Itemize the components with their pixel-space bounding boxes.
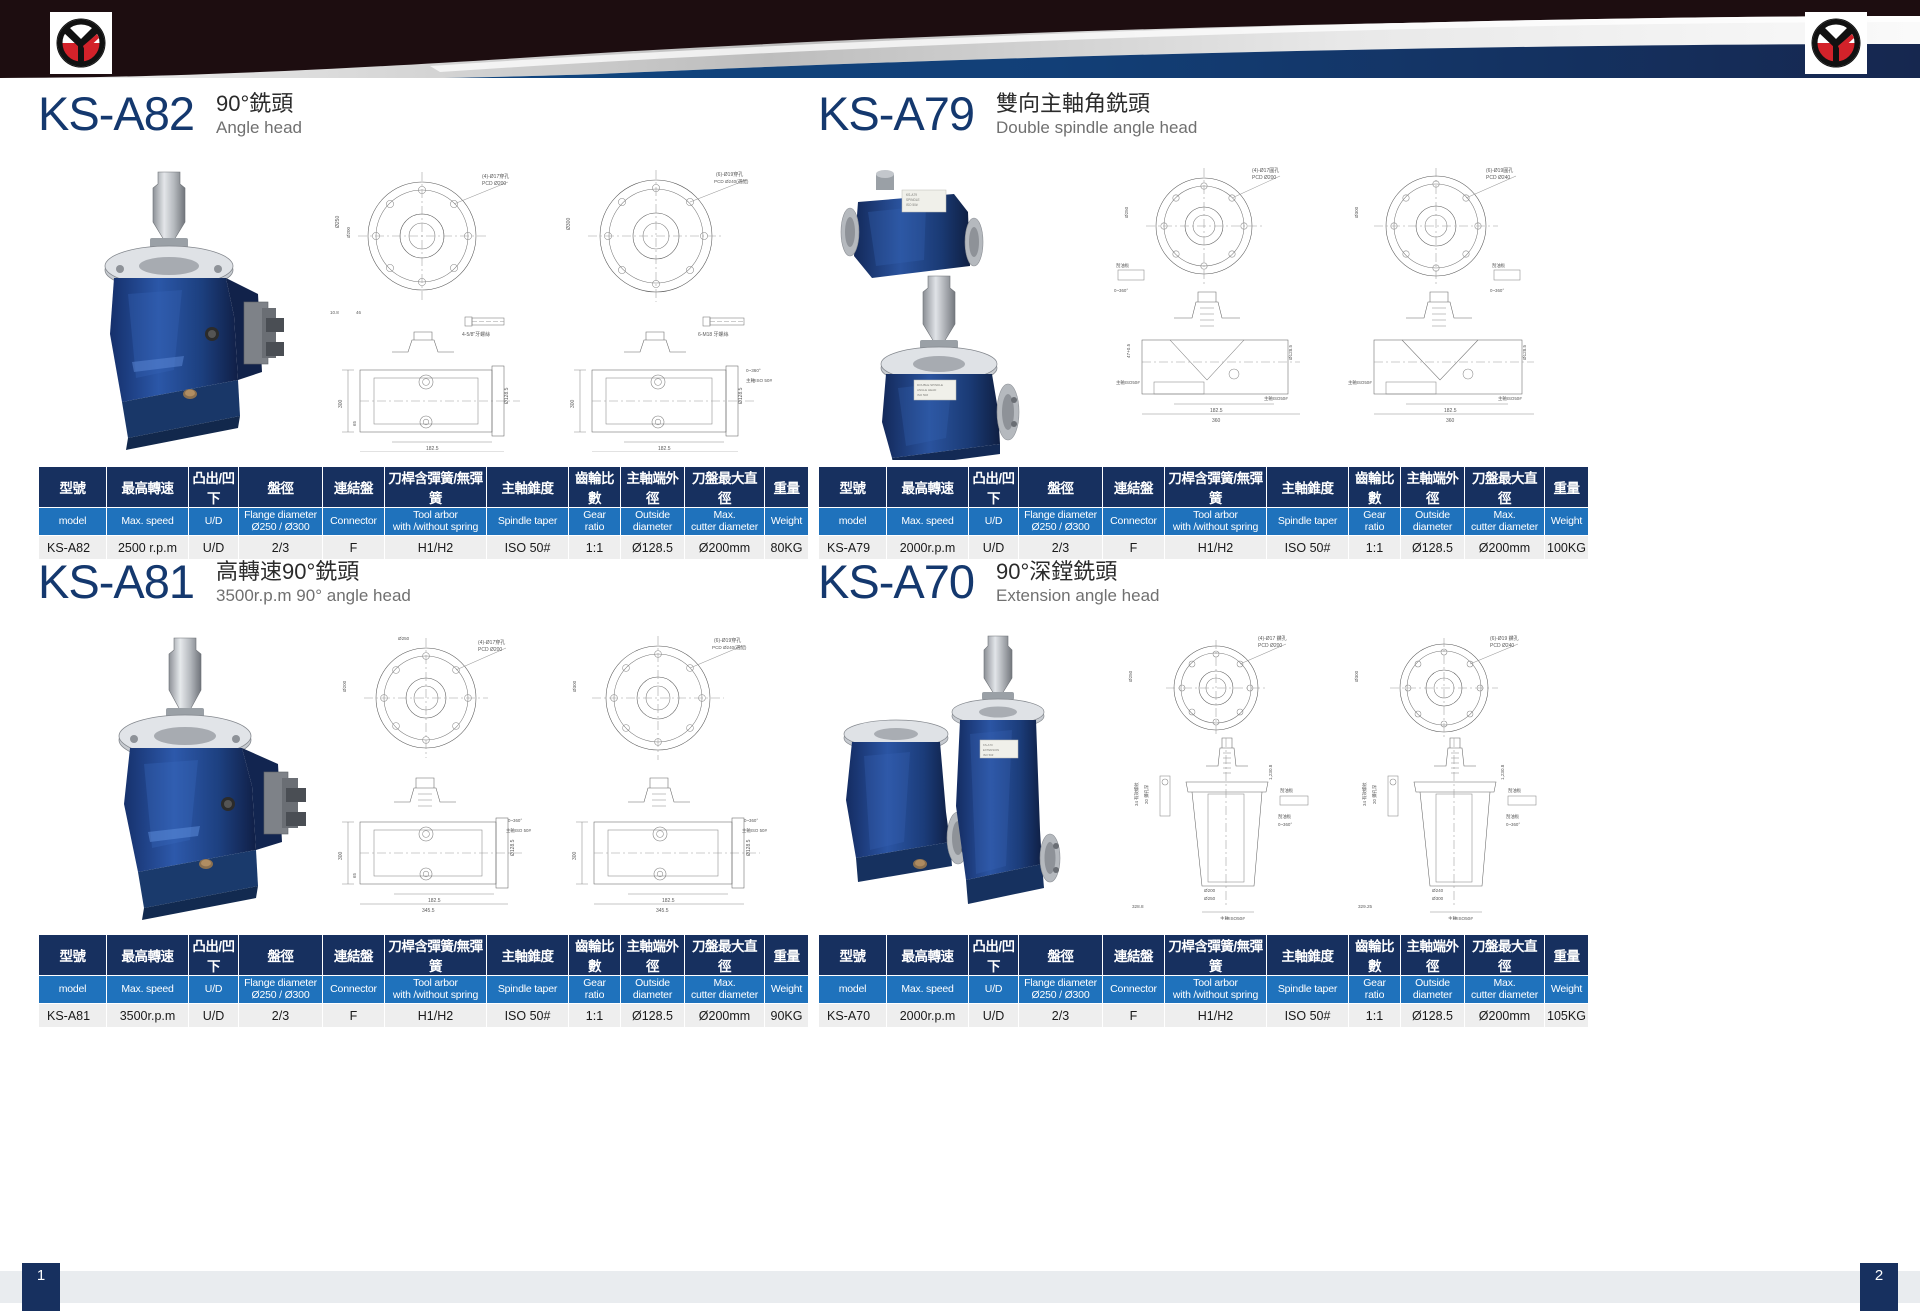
svg-text:300: 300 xyxy=(572,851,578,860)
th-en-gear: Gearratio xyxy=(569,508,621,536)
cell-flange: 2/3 xyxy=(1019,1004,1103,1028)
product-photo-ks-a82 xyxy=(62,166,292,461)
svg-text:主軸ISO50#: 主軸ISO50# xyxy=(1264,395,1288,402)
svg-text:(4)-Ø17穿孔: (4)-Ø17穿孔 xyxy=(482,173,509,180)
th-cn-cutter: 刀盤最大直徑 xyxy=(1465,467,1545,508)
svg-text:PCD Ø240(選配): PCD Ø240(選配) xyxy=(712,644,747,651)
svg-text:Ø300: Ø300 xyxy=(566,218,572,230)
product-block-ks-a82: KS-A82 90°銑頭 Angle head xyxy=(38,88,778,560)
svg-text:主軸ISO50#: 主軸ISO50# xyxy=(1220,915,1245,920)
svg-text:360: 360 xyxy=(1212,418,1221,424)
svg-text:(6)-Ø19圓孔: (6)-Ø19圓孔 xyxy=(1486,167,1513,174)
svg-text:20 鑽孔深: 20 鑽孔深 xyxy=(1371,784,1378,804)
svg-text:主軸ISO 50#: 主軸ISO 50# xyxy=(742,827,767,834)
svg-text:刮油板: 刮油板 xyxy=(1278,813,1292,820)
th-en-taper: Spindle taper xyxy=(1267,508,1349,536)
th-cn-outside: 主軸端外徑 xyxy=(1401,935,1465,976)
svg-text:Ø250: Ø250 xyxy=(1124,206,1129,218)
cell-model: KS-A81 xyxy=(39,1004,107,1028)
svg-text:0~360°: 0~360° xyxy=(1506,822,1520,827)
svg-text:182.5: 182.5 xyxy=(658,446,671,452)
svg-text:329.25: 329.25 xyxy=(1358,904,1372,909)
product-title-row: KS-A79 雙向主軸角銑頭 Double spindle angle head xyxy=(818,88,1558,150)
cell-gear: 1:1 xyxy=(569,1004,621,1028)
product-photo-ks-a79: KS-A79SPINDLEISO 50# xyxy=(828,160,1058,465)
technical-drawings-ks-a81: (4)-Ø17穿孔 PCD Ø200 Ø250 Ø200 xyxy=(322,628,778,920)
th-cn-weight: 重量 xyxy=(765,935,809,976)
cell-speed: 3500r.p.m xyxy=(107,1004,189,1028)
th-en-gear: Gearratio xyxy=(1349,976,1401,1004)
product-visual-area: KS-A79SPINDLEISO 50# xyxy=(818,156,1558,456)
th-cn-weight: 重量 xyxy=(1545,935,1589,976)
th-en-weight: Weight xyxy=(1545,976,1589,1004)
cell-ud: U/D xyxy=(969,1004,1019,1028)
drawing-top-view-left: (4)-Ø17圓孔 PCD Ø200 Ø250 xyxy=(1102,160,1324,452)
th-cn-gear: 齒輪比數 xyxy=(569,935,621,976)
svg-text:PCD Ø200: PCD Ø200 xyxy=(478,647,502,653)
svg-text:Ø250: Ø250 xyxy=(398,636,410,641)
th-en-speed: Max. speed xyxy=(887,508,969,536)
drawing-front-view: (4)-Ø17穿孔 PCD Ø200 Ø250 Ø200 xyxy=(322,628,544,920)
svg-text:DOUBLE SPINDLE: DOUBLE SPINDLE xyxy=(917,383,943,387)
svg-text:(6)-Ø19 鑽孔: (6)-Ø19 鑽孔 xyxy=(1490,635,1519,642)
page-number-left: 1 xyxy=(22,1263,60,1311)
th-en-taper: Spindle taper xyxy=(487,508,569,536)
svg-text:Ø240: Ø240 xyxy=(1432,888,1444,893)
th-cn-weight: 重量 xyxy=(765,467,809,508)
th-cn-speed: 最高轉速 xyxy=(107,467,189,508)
svg-text:345.5: 345.5 xyxy=(422,908,435,914)
th-cn-ud: 凸出/凹下 xyxy=(189,935,239,976)
company-logo-right xyxy=(1805,12,1867,74)
th-cn-gear: 齒輪比數 xyxy=(1349,467,1401,508)
svg-text:刮油板: 刮油板 xyxy=(1506,813,1520,820)
spec-table-ks-a70: 型號 最高轉速 凸出/凹下 盤徑 連結盤 刀桿含彈簧/無彈簧 主軸錐度 齒輪比數… xyxy=(818,934,1589,1028)
svg-text:360: 360 xyxy=(1446,418,1455,424)
th-cn-cutter: 刀盤最大直徑 xyxy=(685,467,765,508)
svg-text:34 有效螺紋: 34 有效螺紋 xyxy=(1133,782,1140,806)
svg-text:300: 300 xyxy=(338,851,344,860)
product-title-row: KS-A81 高轉速90°銑頭 3500r.p.m 90° angle head xyxy=(38,556,778,618)
th-en-speed: Max. speed xyxy=(107,508,189,536)
th-en-gear: Gearratio xyxy=(1349,508,1401,536)
th-cn-gear: 齒輪比數 xyxy=(1349,935,1401,976)
th-en-cutter: Max.cutter diameter xyxy=(685,976,765,1004)
cell-cutter: Ø200mm xyxy=(1465,1004,1545,1028)
th-cn-connector: 連結盤 xyxy=(1103,467,1165,508)
svg-text:Ø200: Ø200 xyxy=(342,680,347,692)
th-en-arbor: Tool arborwith /without spring xyxy=(1165,976,1267,1004)
cell-arbor: H1/H2 xyxy=(385,1004,487,1028)
svg-text:刮油板: 刮油板 xyxy=(1492,262,1506,269)
th-en-cutter: Max.cutter diameter xyxy=(685,508,765,536)
svg-text:PCD Ø200: PCD Ø200 xyxy=(1258,643,1282,649)
th-en-ud: U/D xyxy=(969,976,1019,1004)
th-cn-model: 型號 xyxy=(819,467,887,508)
th-cn-outside: 主軸端外徑 xyxy=(621,467,685,508)
technical-drawings-ks-a70: (4)-Ø17 鑽孔 PCD Ø200 Ø250 xyxy=(1112,628,1558,920)
svg-text:20 鑽孔深: 20 鑽孔深 xyxy=(1143,784,1150,804)
th-en-model: model xyxy=(39,976,107,1004)
th-en-arbor: Tool arborwith /without spring xyxy=(385,508,487,536)
th-cn-cutter: 刀盤最大直徑 xyxy=(685,935,765,976)
th-en-weight: Weight xyxy=(765,976,809,1004)
th-en-outside: Outsidediameter xyxy=(1401,508,1465,536)
svg-text:0~360°: 0~360° xyxy=(744,818,758,823)
th-en-weight: Weight xyxy=(765,508,809,536)
th-en-weight: Weight xyxy=(1545,508,1589,536)
svg-text:PCD Ø240: PCD Ø240 xyxy=(1490,643,1514,649)
company-circle-y-logo-icon xyxy=(53,15,109,71)
product-title-cn: 雙向主軸角銑頭 xyxy=(996,90,1197,117)
svg-text:34 有效螺紋: 34 有效螺紋 xyxy=(1361,782,1368,806)
th-cn-connector: 連結盤 xyxy=(1103,935,1165,976)
th-en-ud: U/D xyxy=(189,976,239,1004)
product-title-en: Extension angle head xyxy=(996,585,1160,607)
svg-text:(4)-Ø17 鑽孔: (4)-Ø17 鑽孔 xyxy=(1258,635,1287,642)
svg-text:182.5: 182.5 xyxy=(428,898,441,904)
svg-text:Ø300: Ø300 xyxy=(1354,206,1359,218)
svg-text:0~360°: 0~360° xyxy=(1490,288,1504,293)
svg-text:ISO 50#: ISO 50# xyxy=(983,753,994,757)
th-cn-taper: 主軸錐度 xyxy=(1267,935,1349,976)
th-en-outside: Outsidediameter xyxy=(621,976,685,1004)
cell-outside: Ø128.5 xyxy=(621,1004,685,1028)
cell-outside: Ø128.5 xyxy=(1401,1004,1465,1028)
th-en-flange: Flange diameterØ250 / Ø300 xyxy=(1019,976,1103,1004)
th-en-connector: Connector xyxy=(323,508,385,536)
th-en-flange: Flange diameterØ250 / Ø300 xyxy=(1019,508,1103,536)
svg-text:1,230.8: 1,230.8 xyxy=(1268,764,1273,780)
th-en-ud: U/D xyxy=(189,508,239,536)
technical-drawings-ks-a79: (4)-Ø17圓孔 PCD Ø200 Ø250 xyxy=(1102,160,1558,452)
th-cn-connector: 連結盤 xyxy=(323,935,385,976)
svg-text:Ø128.5: Ø128.5 xyxy=(746,839,752,856)
spec-table-ks-a82: 型號 最高轉速 凸出/凹下 盤徑 連結盤 刀桿含彈簧/無彈簧 主軸錐度 齒輪比數… xyxy=(38,466,809,560)
th-en-outside: Outsidediameter xyxy=(621,508,685,536)
svg-text:4-5/8"牙螺絲: 4-5/8"牙螺絲 xyxy=(462,331,490,338)
th-en-connector: Connector xyxy=(323,976,385,1004)
svg-text:KS-A79: KS-A79 xyxy=(906,193,917,197)
svg-text:ISO 50#: ISO 50# xyxy=(906,203,918,207)
th-cn-cutter: 刀盤最大直徑 xyxy=(1465,935,1545,976)
th-cn-flange: 盤徑 xyxy=(1019,935,1103,976)
th-en-gear: Gearratio xyxy=(569,976,621,1004)
th-en-connector: Connector xyxy=(1103,976,1165,1004)
spec-table-ks-a79: 型號 最高轉速 凸出/凹下 盤徑 連結盤 刀桿含彈簧/無彈簧 主軸錐度 齒輪比數… xyxy=(818,466,1589,560)
svg-text:Ø128.5: Ø128.5 xyxy=(1522,344,1527,360)
product-title-cn: 90°深鏜銑頭 xyxy=(996,558,1160,585)
th-cn-taper: 主軸錐度 xyxy=(1267,467,1349,508)
th-cn-model: 型號 xyxy=(39,935,107,976)
th-cn-taper: 主軸錐度 xyxy=(487,467,569,508)
cell-ud: U/D xyxy=(189,1004,239,1028)
product-block-ks-a79: KS-A79 雙向主軸角銑頭 Double spindle angle head xyxy=(818,88,1558,560)
th-cn-arbor: 刀桿含彈簧/無彈簧 xyxy=(1165,467,1267,508)
svg-text:Ø300: Ø300 xyxy=(1354,670,1359,682)
svg-text:182.5: 182.5 xyxy=(662,898,675,904)
svg-text:(4)-Ø17穿孔: (4)-Ø17穿孔 xyxy=(478,639,505,646)
product-photo-ks-a81 xyxy=(78,634,318,929)
th-en-ud: U/D xyxy=(969,508,1019,536)
cell-weight: 90KG xyxy=(765,1004,809,1028)
th-cn-outside: 主軸端外徑 xyxy=(621,935,685,976)
th-en-speed: Max. speed xyxy=(887,976,969,1004)
svg-text:EXTENSION: EXTENSION xyxy=(983,748,999,752)
svg-text:PCD Ø200: PCD Ø200 xyxy=(482,181,506,187)
cell-gear: 1:1 xyxy=(1349,1004,1401,1028)
drawing-front-view: (4)-Ø17 鑽孔 PCD Ø200 Ø250 xyxy=(1112,628,1330,920)
company-logo-left xyxy=(50,12,112,74)
product-title-en: Angle head xyxy=(216,117,302,139)
product-title-row: KS-A82 90°銑頭 Angle head xyxy=(38,88,778,150)
product-model-heading: KS-A82 xyxy=(38,88,194,140)
svg-text:300: 300 xyxy=(338,399,344,408)
th-cn-connector: 連結盤 xyxy=(323,467,385,508)
th-cn-outside: 主軸端外徑 xyxy=(1401,467,1465,508)
svg-text:ISO 50#: ISO 50# xyxy=(917,393,928,397)
svg-text:Ø128.5: Ø128.5 xyxy=(738,387,744,404)
table-row: KS-A81 3500r.p.m U/D 2/3 F H1/H2 ISO 50#… xyxy=(39,1004,809,1028)
product-model-heading: KS-A81 xyxy=(38,556,194,608)
cell-taper: ISO 50# xyxy=(487,1004,569,1028)
table-row: KS-A70 2000r.p.m U/D 2/3 F H1/H2 ISO 50#… xyxy=(819,1004,1589,1028)
product-block-ks-a70: KS-A70 90°深鏜銑頭 Extension angle head xyxy=(818,556,1558,1028)
product-model-heading: KS-A70 xyxy=(818,556,974,608)
svg-text:0~360°: 0~360° xyxy=(1278,822,1292,827)
th-en-model: model xyxy=(39,508,107,536)
svg-text:主軸ISO50#: 主軸ISO50# xyxy=(1498,395,1522,402)
svg-text:主軸ISO 50#: 主軸ISO 50# xyxy=(506,827,531,834)
th-en-speed: Max. speed xyxy=(107,976,189,1004)
svg-text:182.5: 182.5 xyxy=(1444,408,1457,414)
th-cn-arbor: 刀桿含彈簧/無彈簧 xyxy=(385,467,487,508)
th-en-flange: Flange diameterØ250 / Ø300 xyxy=(239,508,323,536)
svg-text:Ø250: Ø250 xyxy=(335,216,341,228)
th-cn-weight: 重量 xyxy=(1545,467,1589,508)
catalog-page: KS-A82 90°銑頭 Angle head xyxy=(0,0,1920,1311)
th-cn-speed: 最高轉速 xyxy=(887,935,969,976)
th-cn-ud: 凸出/凹下 xyxy=(969,935,1019,976)
svg-text:300: 300 xyxy=(570,399,576,408)
th-cn-flange: 盤徑 xyxy=(239,467,323,508)
page-number-right: 2 xyxy=(1860,1263,1898,1311)
svg-text:Ø128.5: Ø128.5 xyxy=(504,387,510,404)
svg-text:Ø200: Ø200 xyxy=(1204,888,1216,893)
cell-cutter: Ø200mm xyxy=(685,1004,765,1028)
product-title-cn: 90°銑頭 xyxy=(216,90,302,117)
th-cn-ud: 凸出/凹下 xyxy=(189,467,239,508)
th-en-arbor: Tool arborwith /without spring xyxy=(1165,508,1267,536)
footer-bar xyxy=(0,1271,1920,1303)
svg-text:PCD Ø240: PCD Ø240 xyxy=(1486,175,1510,181)
th-en-taper: Spindle taper xyxy=(1267,976,1349,1004)
svg-text:主軸ISO50#: 主軸ISO50# xyxy=(1116,379,1140,386)
svg-text:主軸ISO50#: 主軸ISO50# xyxy=(1348,379,1372,386)
svg-text:Ø300: Ø300 xyxy=(1432,896,1444,901)
product-visual-area: KS-A70EXTENSIONISO 50# xyxy=(818,624,1558,924)
th-en-outside: Outsidediameter xyxy=(1401,976,1465,1004)
product-visual-area: (4)-Ø17穿孔 PCD Ø200 Ø250 Ø200 4-5/8"牙螺絲 xyxy=(38,156,778,456)
svg-text:ANGLE HEAD: ANGLE HEAD xyxy=(917,388,937,392)
svg-text:65: 65 xyxy=(352,872,357,878)
svg-text:46: 46 xyxy=(356,310,362,315)
drawing-side-view: (6)-Ø19 鑽孔 PCD Ø240 Ø300 xyxy=(1336,628,1558,920)
svg-text:刮油板: 刮油板 xyxy=(1280,787,1294,794)
th-en-model: model xyxy=(819,508,887,536)
th-en-cutter: Max.cutter diameter xyxy=(1465,976,1545,1004)
th-cn-arbor: 刀桿含彈簧/無彈簧 xyxy=(1165,935,1267,976)
cell-speed: 2000r.p.m xyxy=(887,1004,969,1028)
page-footer: 1 2 xyxy=(0,1263,1920,1311)
technical-drawings-ks-a82: (4)-Ø17穿孔 PCD Ø200 Ø250 Ø200 4-5/8"牙螺絲 xyxy=(322,160,778,452)
company-circle-y-logo-icon xyxy=(1808,15,1864,71)
svg-text:主軸ISO50#: 主軸ISO50# xyxy=(1448,915,1473,920)
svg-text:0~360°: 0~360° xyxy=(508,818,522,823)
th-cn-taper: 主軸錐度 xyxy=(487,935,569,976)
svg-text:Ø200: Ø200 xyxy=(346,226,351,238)
product-photo-ks-a70: KS-A70EXTENSIONISO 50# xyxy=(824,630,1074,931)
cell-flange: 2/3 xyxy=(239,1004,323,1028)
drawing-front-view: (4)-Ø17穿孔 PCD Ø200 Ø250 Ø200 4-5/8"牙螺絲 xyxy=(322,160,544,452)
drawing-top-view-right: (6)-Ø19圓孔 PCD Ø240 Ø300 xyxy=(1330,160,1558,452)
svg-text:65: 65 xyxy=(352,420,357,426)
svg-text:PCD Ø200: PCD Ø200 xyxy=(1252,175,1276,181)
cell-arbor: H1/H2 xyxy=(1165,1004,1267,1028)
cell-taper: ISO 50# xyxy=(1267,1004,1349,1028)
th-cn-model: 型號 xyxy=(39,467,107,508)
th-cn-flange: 盤徑 xyxy=(239,935,323,976)
product-title-en: Double spindle angle head xyxy=(996,117,1197,139)
svg-text:Ø250: Ø250 xyxy=(1204,896,1216,901)
th-cn-gear: 齒輪比數 xyxy=(569,467,621,508)
product-visual-area: (4)-Ø17穿孔 PCD Ø200 Ø250 Ø200 xyxy=(38,624,778,924)
svg-text:1,230.8: 1,230.8 xyxy=(1500,764,1505,780)
svg-text:KS-A70: KS-A70 xyxy=(983,743,993,747)
th-en-taper: Spindle taper xyxy=(487,976,569,1004)
svg-text:182.5: 182.5 xyxy=(426,446,439,452)
svg-text:SPINDLE: SPINDLE xyxy=(906,198,920,202)
cell-model: KS-A70 xyxy=(819,1004,887,1028)
drawing-side-view: (6)-Ø19穿孔 PCD Ø240(選配) Ø300 6-M18 牙螺絲 xyxy=(550,160,778,452)
svg-text:(4)-Ø17圓孔: (4)-Ø17圓孔 xyxy=(1252,167,1279,174)
svg-text:Ø128.5: Ø128.5 xyxy=(1288,344,1293,360)
svg-text:0~360°: 0~360° xyxy=(1114,288,1128,293)
page-header-banner xyxy=(0,0,1920,78)
product-block-ks-a81: KS-A81 高轉速90°銑頭 3500r.p.m 90° angle head xyxy=(38,556,778,1028)
svg-text:47+0.5: 47+0.5 xyxy=(1126,343,1131,358)
svg-text:刮油板: 刮油板 xyxy=(1508,787,1522,794)
th-cn-speed: 最高轉速 xyxy=(887,467,969,508)
th-cn-ud: 凸出/凹下 xyxy=(969,467,1019,508)
svg-text:刮油板: 刮油板 xyxy=(1116,262,1130,269)
product-title-en: 3500r.p.m 90° angle head xyxy=(216,585,411,607)
svg-text:182.5: 182.5 xyxy=(1210,408,1223,414)
th-en-connector: Connector xyxy=(1103,508,1165,536)
cell-connector: F xyxy=(1103,1004,1165,1028)
svg-text:(6)-Ø19穿孔: (6)-Ø19穿孔 xyxy=(716,171,743,178)
th-en-arbor: Tool arborwith /without spring xyxy=(385,976,487,1004)
th-cn-flange: 盤徑 xyxy=(1019,467,1103,508)
svg-text:Ø300: Ø300 xyxy=(572,680,577,692)
svg-text:10.8: 10.8 xyxy=(330,310,339,315)
svg-text:328.8: 328.8 xyxy=(1132,904,1144,909)
product-model-heading: KS-A79 xyxy=(818,88,974,140)
svg-text:主軸ISO 50#: 主軸ISO 50# xyxy=(746,377,772,384)
cell-weight: 105KG xyxy=(1545,1004,1589,1028)
th-cn-arbor: 刀桿含彈簧/無彈簧 xyxy=(385,935,487,976)
svg-text:Ø128.5: Ø128.5 xyxy=(510,839,516,856)
th-en-flange: Flange diameterØ250 / Ø300 xyxy=(239,976,323,1004)
svg-text:PCD Ø240(選配): PCD Ø240(選配) xyxy=(714,178,749,185)
product-title-cn: 高轉速90°銑頭 xyxy=(216,558,411,585)
th-en-cutter: Max.cutter diameter xyxy=(1465,508,1545,536)
spec-table-ks-a81: 型號 最高轉速 凸出/凹下 盤徑 連結盤 刀桿含彈簧/無彈簧 主軸錐度 齒輪比數… xyxy=(38,934,809,1028)
svg-text:345.5: 345.5 xyxy=(656,908,669,914)
svg-text:0~360°: 0~360° xyxy=(746,368,761,373)
th-en-model: model xyxy=(819,976,887,1004)
svg-text:6-M18 牙螺絲: 6-M18 牙螺絲 xyxy=(698,331,729,338)
svg-text:(6)-Ø19穿孔: (6)-Ø19穿孔 xyxy=(714,637,741,644)
th-cn-speed: 最高轉速 xyxy=(107,935,189,976)
product-title-row: KS-A70 90°深鏜銑頭 Extension angle head xyxy=(818,556,1558,618)
svg-text:Ø250: Ø250 xyxy=(1128,670,1133,682)
cell-connector: F xyxy=(323,1004,385,1028)
th-cn-model: 型號 xyxy=(819,935,887,976)
drawing-side-view: (6)-Ø19穿孔 PCD Ø240(選配) Ø300 xyxy=(550,628,778,920)
